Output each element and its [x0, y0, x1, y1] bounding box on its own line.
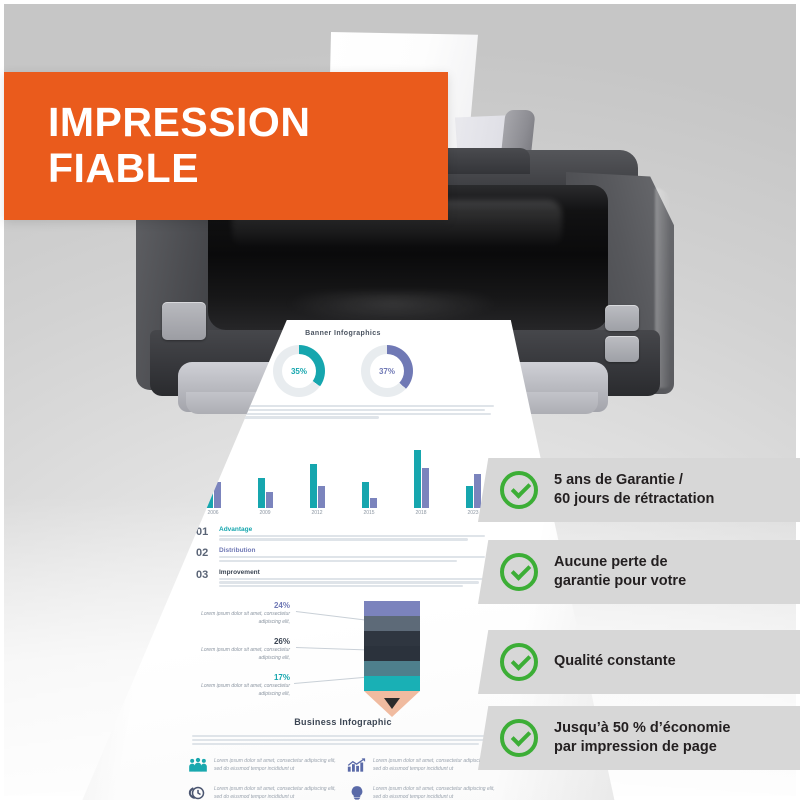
feature-text-1: 5 ans de Garantie / 60 jours de rétracta…: [554, 471, 724, 509]
pencil-text-1: Lorem ipsum dolor sit amet, consectetur …: [194, 611, 290, 626]
x-tick-3: 2015: [350, 510, 388, 516]
clock-icon: [188, 785, 208, 800]
chart-legend: Step 01 Step 02: [200, 425, 508, 444]
icon-feature-clock: Lorem ipsum dolor sit amet, consectetur …: [188, 785, 339, 800]
bar-group: [298, 464, 336, 508]
check-circle-icon: [500, 553, 538, 591]
x-tick-1: 2009: [246, 510, 284, 516]
feature-text-4: Jusqu’à 50 % d’économie par impression d…: [554, 719, 740, 757]
pencil-value-3: 17%: [178, 673, 290, 682]
icon-feature-idea: Lorem ipsum dolor sit amet, consectetur …: [347, 785, 498, 800]
headline-line-1: IMPRESSION: [48, 99, 310, 145]
doc-paragraph-bottom: [192, 735, 494, 745]
step-number: 03: [196, 569, 212, 581]
list-item: 03 Improvement: [196, 569, 490, 589]
list-item: 01 Advantage: [196, 526, 490, 543]
step-number: 02: [196, 547, 212, 559]
pencil-label-2: 26% Lorem ipsum dolor sit amet, consecte…: [186, 637, 290, 662]
check-circle-icon: [500, 719, 538, 757]
pencil-infographic: 24% Lorem ipsum dolor sit amet, consecte…: [178, 595, 508, 713]
list-item: 02 Distribution: [196, 547, 490, 564]
pencil-text-2: Lorem ipsum dolor sit amet, consectetur …: [186, 647, 290, 662]
feature-1-line-1: 5 ans de Garantie /: [554, 472, 683, 488]
icon-feature-text: Lorem ipsum dolor sit amet, consectetur …: [373, 785, 498, 800]
feature-2-line-2: garantie pour votre: [554, 573, 686, 589]
headline-banner: IMPRESSION FIABLE: [4, 72, 448, 220]
printer-gloss-highlight-lower: [268, 292, 518, 320]
people-group-icon: [188, 757, 208, 773]
feature-4-line-2: par impression de page: [554, 739, 717, 755]
feature-callout-3[interactable]: Qualité constante: [478, 630, 800, 694]
step-title: Advantage: [219, 526, 490, 533]
donut-chart-1-value: 35%: [291, 367, 307, 376]
feature-callout-4[interactable]: Jusqu’à 50 % d’économie par impression d…: [478, 706, 800, 770]
printer-button-right-top[interactable]: [605, 305, 639, 331]
feature-callout-1[interactable]: 5 ans de Garantie / 60 jours de rétracta…: [478, 458, 800, 522]
icon-feature-people: Lorem ipsum dolor sit amet, consectetur …: [188, 757, 339, 773]
promo-banner-image: Banner Infographics 35% 37% Step 01 Step…: [0, 0, 800, 800]
pencil-value-2: 26%: [186, 637, 290, 646]
page-title: IMPRESSION FIABLE: [4, 72, 448, 192]
feature-text-3: Qualité constante: [554, 652, 686, 671]
step-title: Distribution: [219, 547, 490, 554]
pencil-label-1: 24% Lorem ipsum dolor sit amet, consecte…: [194, 601, 290, 626]
lightbulb-icon: [347, 785, 367, 800]
section-title: Business Infographic: [178, 717, 508, 727]
printer-button-left[interactable]: [162, 302, 206, 340]
icon-feature-row-2: Lorem ipsum dolor sit amet, consectetur …: [188, 785, 498, 800]
pencil-graphic: [364, 601, 420, 717]
feature-4-line-1: Jusqu’à 50 % d’économie: [554, 720, 730, 736]
pencil-label-3: 17% Lorem ipsum dolor sit amet, consecte…: [178, 673, 290, 698]
printer-button-right-bottom[interactable]: [605, 336, 639, 362]
growth-chart-icon: [347, 757, 367, 773]
headline-line-2: FIABLE: [48, 146, 448, 192]
bar-chart-x-axis: 2006 2009 2012 2015 2018 2023: [194, 510, 492, 516]
bar-chart: [194, 446, 492, 508]
feature-3-line-1: Qualité constante: [554, 653, 676, 669]
check-circle-icon: [500, 643, 538, 681]
bar-group: [350, 482, 388, 508]
step-title: Improvement: [219, 569, 490, 576]
icon-feature-row-1: Lorem ipsum dolor sit amet, consectetur …: [188, 757, 498, 773]
feature-callout-2[interactable]: Aucune perte de garantie pour votre: [478, 540, 800, 604]
check-circle-icon: [500, 471, 538, 509]
numbered-steps-list: 01 Advantage 02 Distribution: [196, 526, 490, 589]
bar-group: [402, 450, 440, 508]
pencil-lead: [384, 698, 400, 709]
feature-text-2: Aucune perte de garantie pour votre: [554, 553, 696, 591]
bar-group: [246, 478, 284, 508]
x-tick-2: 2012: [298, 510, 336, 516]
donut-chart-2-value: 37%: [379, 367, 395, 376]
feature-1-line-2: 60 jours de rétractation: [554, 491, 714, 507]
pencil-text-3: Lorem ipsum dolor sit amet, consectetur …: [178, 683, 290, 698]
feature-2-line-1: Aucune perte de: [554, 554, 668, 570]
icon-feature-text: Lorem ipsum dolor sit amet, consectetur …: [214, 757, 339, 773]
donut-chart-2: 37%: [361, 345, 413, 397]
x-tick-4: 2018: [402, 510, 440, 516]
pencil-value-1: 24%: [194, 601, 290, 610]
icon-feature-growth: Lorem ipsum dolor sit amet, consectetur …: [347, 757, 498, 773]
icon-feature-text: Lorem ipsum dolor sit amet, consectetur …: [214, 785, 339, 800]
donut-chart-1: 35%: [273, 345, 325, 397]
